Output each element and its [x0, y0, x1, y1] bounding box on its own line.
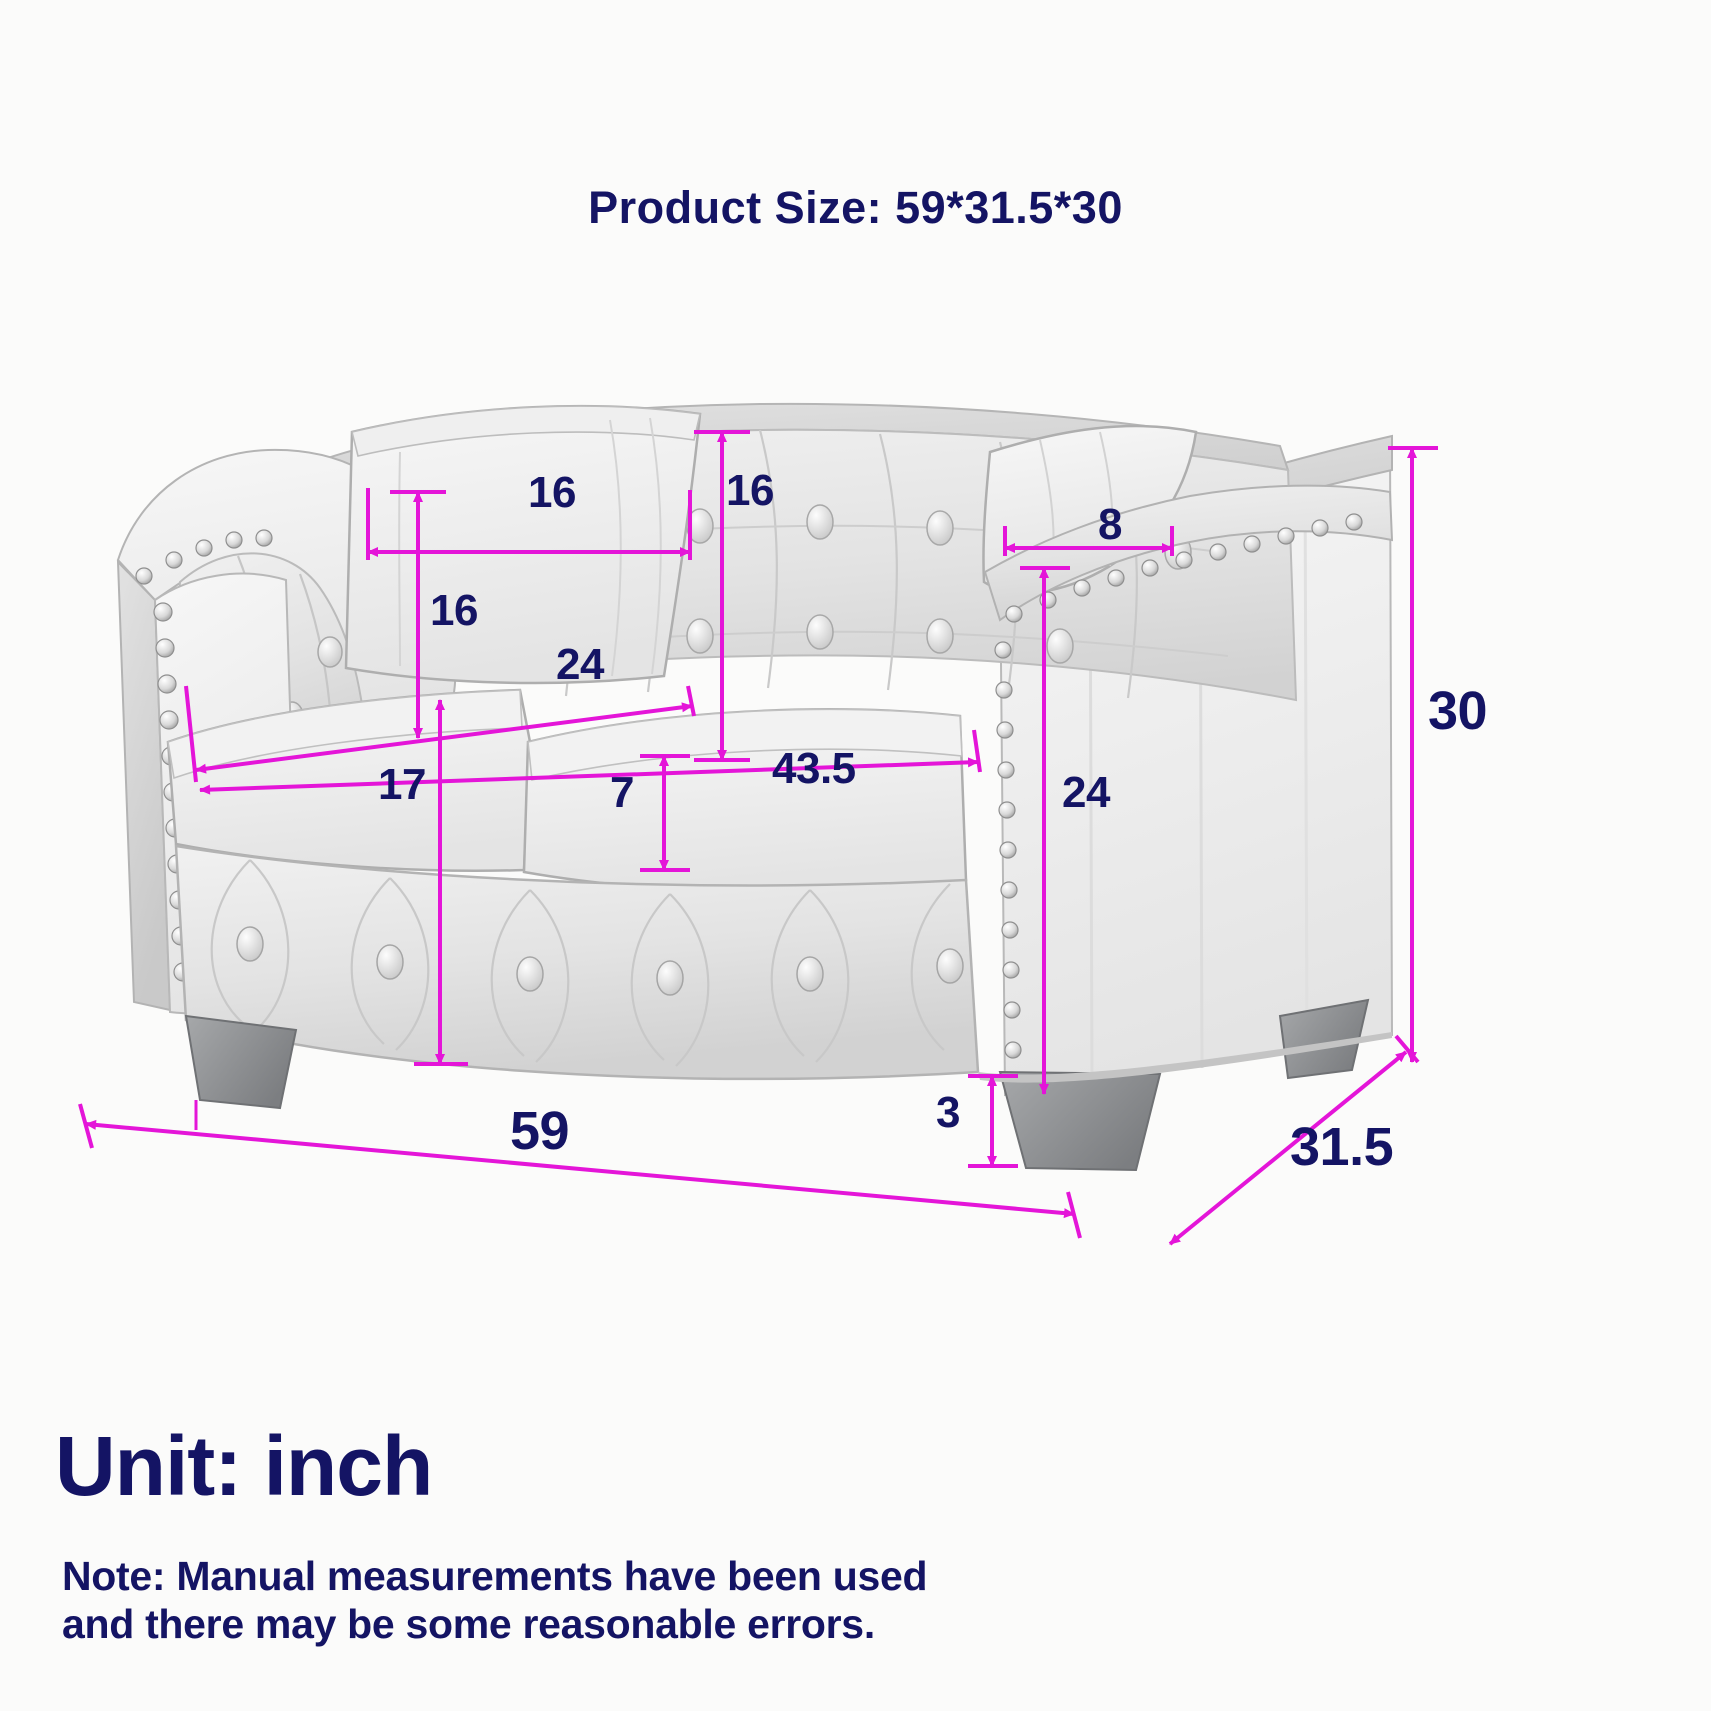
measurement-note-line-2: and there may be some reasonable errors.: [62, 1600, 927, 1648]
dim-label-cushion-thickness: 7: [610, 768, 634, 818]
dim-label-arm-height: 24: [1062, 768, 1110, 818]
dim-label-pillow-width: 16: [528, 468, 576, 518]
measurement-note-line-1: Note: Manual measurements have been used: [62, 1552, 927, 1600]
dim-label-seat-depth: 24: [556, 640, 604, 690]
sofa-leg-front-left: [186, 1016, 296, 1108]
dim-label-arm-width: 8: [1098, 500, 1122, 550]
sofa-leg-front-right: [1000, 1072, 1160, 1170]
dim-label-overall-width: 59: [510, 1100, 569, 1162]
dim-label-seat-height: 17: [378, 760, 426, 810]
measurement-note: Note: Manual measurements have been used…: [62, 1552, 927, 1649]
dim-label-seat-width: 43.5: [772, 744, 856, 794]
dim-label-back-cushion-height: 16: [726, 466, 774, 516]
dim-label-pillow-height: 16: [430, 586, 478, 636]
dim-label-overall-height: 30: [1428, 680, 1487, 742]
dim-label-overall-depth: 31.5: [1290, 1116, 1393, 1178]
product-size-diagram: Product Size: 59*31.5*30: [0, 0, 1711, 1711]
unit-label: Unit: inch: [55, 1418, 432, 1515]
dim-label-leg-height: 3: [936, 1088, 960, 1138]
